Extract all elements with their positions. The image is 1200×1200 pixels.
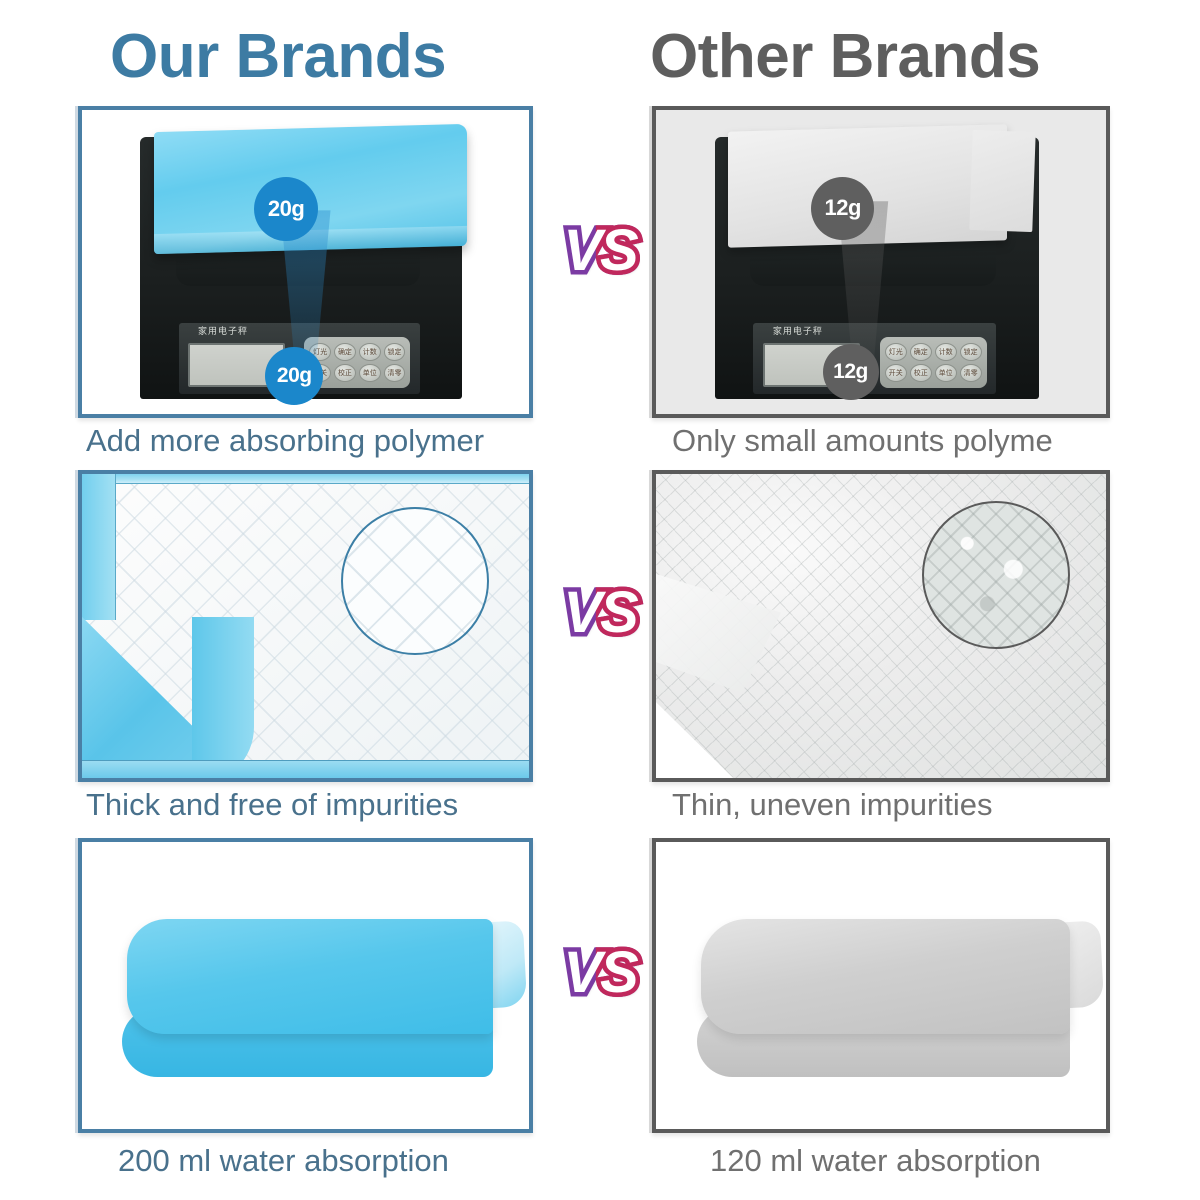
weight-badge-readout: 12g xyxy=(823,344,879,400)
caption-other-absorption: 120 ml water absorption xyxy=(710,1140,1041,1182)
weight-badge-readout: 20g xyxy=(265,347,323,405)
scale-key[interactable]: 计数 xyxy=(935,343,957,361)
scale-key[interactable]: 校正 xyxy=(910,364,932,382)
vs-badge-row-1: VS VS VS xyxy=(548,216,652,286)
scale-brand-label: 家用电子秤 xyxy=(773,324,823,337)
pad-edge-left xyxy=(82,474,116,620)
vs-badge-row-3: VS VS VS xyxy=(548,938,652,1008)
panel-other-absorption xyxy=(652,838,1110,1133)
scale-scene-gray: 家用电子秤 灯光 确定 计数 锁定 开关 校正 单位 清零 xyxy=(656,110,1106,414)
vs-label: VS xyxy=(548,578,652,648)
scale-keypad: 灯光 确定 计数 锁定 开关 校正 单位 清零 xyxy=(880,337,987,388)
scale-key[interactable]: 灯光 xyxy=(885,343,907,361)
white-pad-flap xyxy=(969,130,1035,232)
pad-edge-top xyxy=(82,474,529,484)
weight-badge-top: 20g xyxy=(254,177,318,241)
scale-key[interactable]: 清零 xyxy=(384,364,406,382)
caption-other-polymer: Only small amounts polyme xyxy=(672,420,1053,462)
caption-our-polymer: Add more absorbing polymer xyxy=(86,420,484,462)
peeled-corner-curve xyxy=(192,617,254,782)
panel-other-polymer: 家用电子秤 灯光 确定 计数 锁定 开关 校正 单位 清零 xyxy=(652,106,1110,418)
scale-key[interactable]: 确定 xyxy=(334,343,356,361)
heading-other-brands: Other Brands xyxy=(650,18,1040,96)
panel-our-thickness xyxy=(78,470,533,782)
caption-our-absorption: 200 ml water absorption xyxy=(118,1140,449,1182)
scale-key[interactable]: 单位 xyxy=(935,364,957,382)
headings-row: Our Brands Other Brands xyxy=(0,18,1200,96)
comparison-infographic: Our Brands Other Brands 家用电子秤 灯光 确定 计数 锁… xyxy=(0,0,1200,1200)
vs-label: VS xyxy=(548,216,652,286)
caption-other-thickness: Thin, uneven impurities xyxy=(672,784,993,826)
weight-badge-top: 12g xyxy=(811,177,874,240)
vs-label: VS xyxy=(548,938,652,1008)
magnify-circle-icon xyxy=(922,501,1070,649)
scale-key[interactable]: 确定 xyxy=(910,343,932,361)
pad-upper-fold xyxy=(701,919,1070,1034)
pad-upper-fold xyxy=(127,919,494,1034)
vs-badge-icon: VS VS VS xyxy=(548,578,652,648)
vs-badge-icon: VS VS VS xyxy=(548,938,652,1008)
scale-key[interactable]: 计数 xyxy=(359,343,381,361)
scale-key[interactable]: 校正 xyxy=(334,364,356,382)
scale-key[interactable]: 开关 xyxy=(885,364,907,382)
folded-gray-pad xyxy=(656,842,1106,1129)
heading-our-brands: Our Brands xyxy=(110,18,446,96)
panel-other-thickness xyxy=(652,470,1110,782)
scale-key[interactable]: 单位 xyxy=(359,364,381,382)
scale-key[interactable]: 锁定 xyxy=(960,343,982,361)
scale-key[interactable]: 清零 xyxy=(960,364,982,382)
magnify-circle-icon xyxy=(341,507,489,655)
vs-badge-row-2: VS VS VS xyxy=(548,578,652,648)
folded-blue-pad xyxy=(82,842,529,1129)
vs-badge-icon: VS VS VS xyxy=(548,216,652,286)
caption-our-thickness: Thick and free of impurities xyxy=(86,784,458,826)
scale-scene-color: 家用电子秤 灯光 确定 计数 锁定 开关 校正 单位 清零 20g xyxy=(82,110,529,414)
scale-brand-label: 家用电子秤 xyxy=(198,324,248,337)
panel-our-polymer: 家用电子秤 灯光 确定 计数 锁定 开关 校正 单位 清零 20g xyxy=(78,106,533,418)
panel-our-absorption xyxy=(78,838,533,1133)
pad-edge-bottom xyxy=(82,760,529,778)
scale-key[interactable]: 锁定 xyxy=(384,343,406,361)
